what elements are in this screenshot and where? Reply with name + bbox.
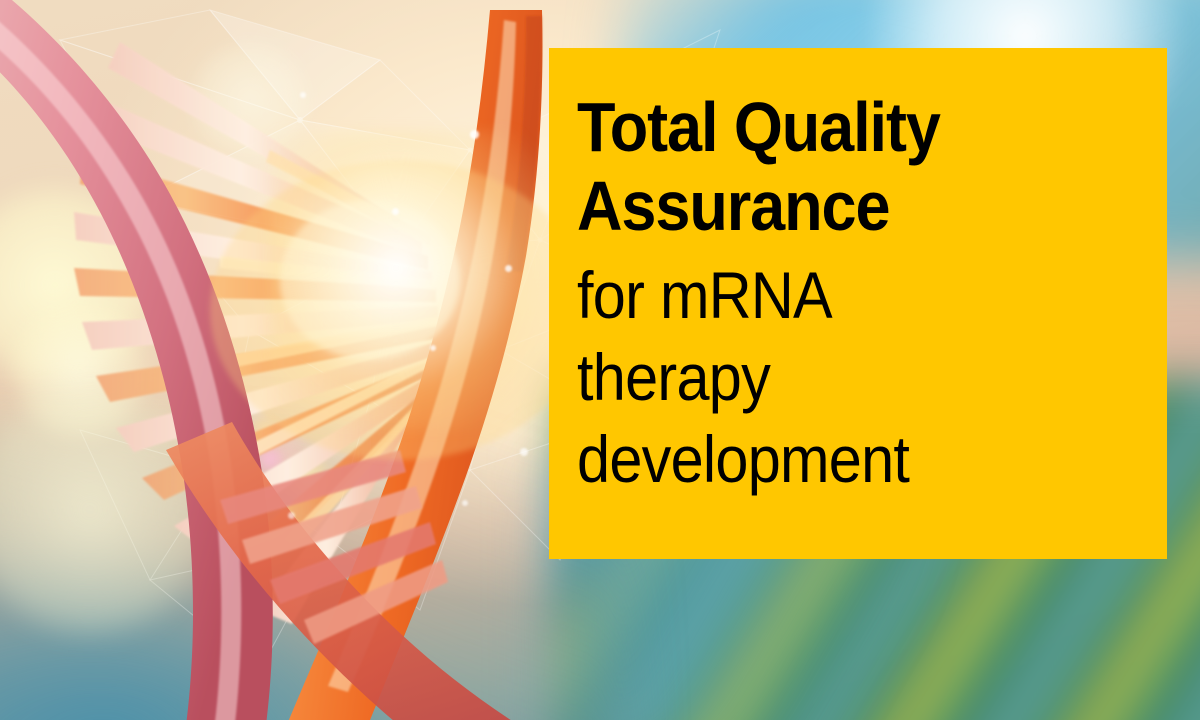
- subhead-line-2: therapy: [577, 336, 1083, 418]
- sparkle-dot: [505, 265, 512, 272]
- subhead-line-1: for mRNA: [577, 254, 1083, 336]
- bokeh-circle: [10, 300, 150, 440]
- sparkle-dot: [300, 92, 306, 98]
- sparkle-dot: [470, 130, 479, 139]
- headline-panel: Total Quality Assurance for mRNA therapy…: [549, 48, 1167, 559]
- headline-line-2: Assurance: [577, 167, 1083, 246]
- subhead-line-3: development: [577, 418, 1083, 500]
- sparkle-dot: [392, 208, 399, 215]
- bokeh-circle: [330, 160, 425, 255]
- banner: Total Quality Assurance for mRNA therapy…: [0, 0, 1200, 720]
- sparkle-dot: [430, 345, 436, 351]
- dna-center-glow: [270, 130, 570, 430]
- bokeh-circle: [0, 180, 160, 390]
- bokeh-circle: [190, 40, 310, 160]
- background-teal-wash: [0, 420, 640, 720]
- headline-line-1: Total Quality: [577, 88, 1083, 167]
